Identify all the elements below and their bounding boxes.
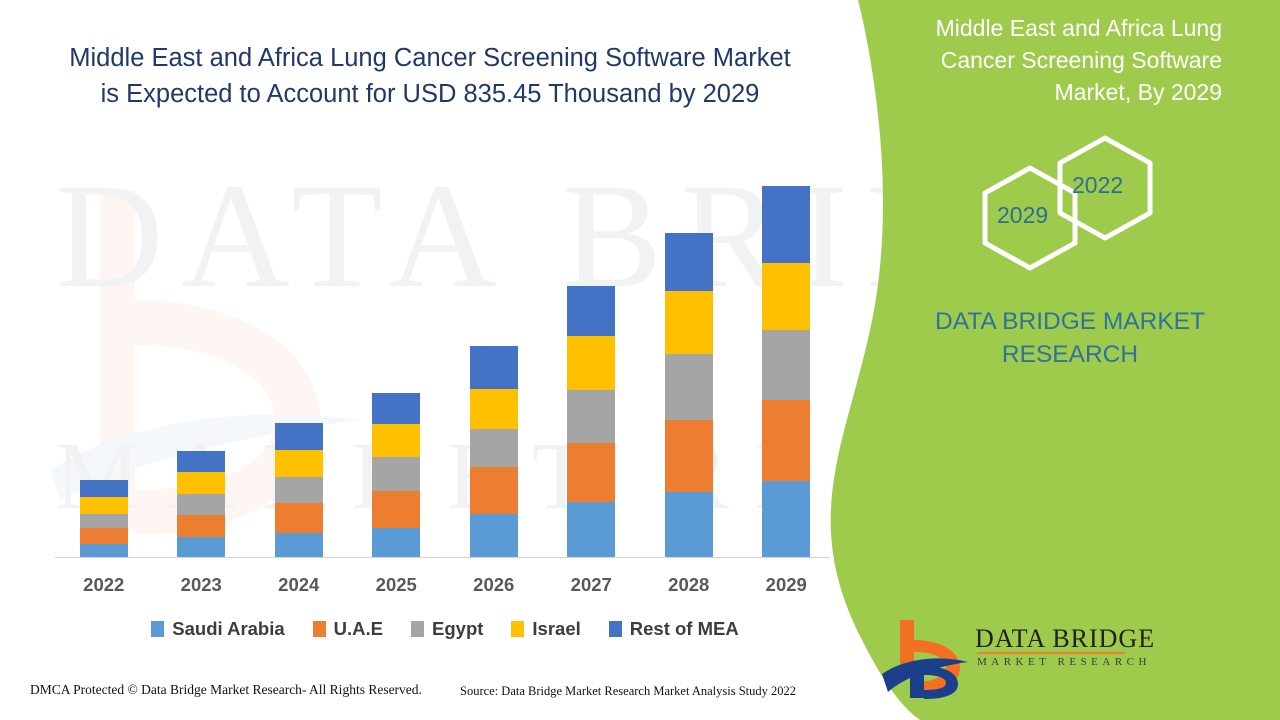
- right-panel-title-line3: Market, By 2029: [1055, 79, 1222, 105]
- bar-segment-israel-2022[interactable]: [80, 497, 128, 514]
- page-title-line2: is Expected to Account for USD 835.45 Th…: [101, 80, 760, 108]
- brand-line2: RESEARCH: [1002, 341, 1138, 368]
- bar-column-2026[interactable]: [470, 346, 518, 558]
- bar-segment-u-a-e-2022[interactable]: [80, 528, 128, 544]
- bar-segment-israel-2023[interactable]: [177, 472, 225, 494]
- hexagon-2029-label: 2029: [997, 202, 1048, 229]
- bar-segment-u-a-e-2029[interactable]: [762, 400, 810, 481]
- bar-segment-egypt-2024[interactable]: [275, 477, 323, 503]
- legend-item-u-a-e[interactable]: U.A.E: [313, 618, 383, 640]
- bar-segment-egypt-2027[interactable]: [567, 390, 615, 443]
- x-axis-label-2029: 2029: [741, 574, 831, 596]
- x-axis-label-2023: 2023: [156, 574, 246, 596]
- chart-x-axis-line: [55, 557, 830, 558]
- data-bridge-logo: DATA BRIDGE MARKET RESEARCH: [880, 610, 1130, 695]
- bar-segment-egypt-2025[interactable]: [372, 457, 420, 491]
- bar-segment-saudi-arabia-2022[interactable]: [80, 544, 128, 558]
- hexagon-group: 2022 2029: [860, 130, 1280, 295]
- bar-segment-u-a-e-2025[interactable]: [372, 491, 420, 528]
- chart-x-axis-labels: 20222023202420252026202720282029: [55, 574, 835, 600]
- bar-segment-saudi-arabia-2027[interactable]: [567, 502, 615, 558]
- bar-column-2024[interactable]: [275, 423, 323, 558]
- legend-item-rest-of-mea[interactable]: Rest of MEA: [609, 618, 739, 640]
- legend-swatch-icon: [609, 621, 622, 637]
- right-panel-title: Middle East and Africa Lung Cancer Scree…: [850, 12, 1260, 108]
- bar-segment-saudi-arabia-2029[interactable]: [762, 481, 810, 558]
- logo-divider: [977, 652, 1125, 654]
- bar-segment-rest-of-mea-2024[interactable]: [275, 423, 323, 450]
- bar-segment-saudi-arabia-2028[interactable]: [665, 492, 713, 558]
- legend-label: Rest of MEA: [630, 618, 739, 640]
- bar-column-2023[interactable]: [177, 451, 225, 558]
- bar-segment-saudi-arabia-2026[interactable]: [470, 514, 518, 558]
- bar-segment-egypt-2023[interactable]: [177, 494, 225, 515]
- bar-segment-egypt-2022[interactable]: [80, 514, 128, 528]
- bar-column-2029[interactable]: [762, 186, 810, 558]
- x-axis-label-2026: 2026: [449, 574, 539, 596]
- bar-segment-u-a-e-2023[interactable]: [177, 515, 225, 537]
- bar-segment-u-a-e-2027[interactable]: [567, 443, 615, 502]
- bar-column-2028[interactable]: [665, 233, 713, 558]
- bar-segment-israel-2024[interactable]: [275, 450, 323, 477]
- legend-item-egypt[interactable]: Egypt: [411, 618, 483, 640]
- legend-item-saudi-arabia[interactable]: Saudi Arabia: [151, 618, 284, 640]
- bar-segment-saudi-arabia-2024[interactable]: [275, 533, 323, 558]
- bar-segment-u-a-e-2028[interactable]: [665, 420, 713, 492]
- legend-label: Israel: [532, 618, 580, 640]
- legend-swatch-icon: [313, 621, 326, 637]
- legend-swatch-icon: [511, 621, 524, 637]
- bar-segment-rest-of-mea-2028[interactable]: [665, 233, 713, 291]
- x-axis-label-2024: 2024: [254, 574, 344, 596]
- x-axis-label-2028: 2028: [644, 574, 734, 596]
- bar-segment-saudi-arabia-2025[interactable]: [372, 528, 420, 558]
- bar-segment-egypt-2028[interactable]: [665, 354, 713, 420]
- bar-segment-rest-of-mea-2022[interactable]: [80, 480, 128, 497]
- x-axis-label-2025: 2025: [351, 574, 441, 596]
- bar-segment-u-a-e-2024[interactable]: [275, 503, 323, 533]
- data-bridge-mark-icon: [880, 614, 970, 699]
- bar-segment-israel-2028[interactable]: [665, 291, 713, 354]
- bar-segment-israel-2026[interactable]: [470, 389, 518, 429]
- legend-label: U.A.E: [334, 618, 383, 640]
- footer-copyright: DMCA Protected © Data Bridge Market Rese…: [30, 682, 422, 698]
- logo-main-text: DATA BRIDGE: [975, 624, 1155, 654]
- chart-panel: Middle East and Africa Lung Cancer Scree…: [0, 0, 860, 720]
- bar-segment-israel-2029[interactable]: [762, 263, 810, 330]
- bar-column-2027[interactable]: [567, 286, 615, 558]
- page-title-line1: Middle East and Africa Lung Cancer Scree…: [69, 44, 790, 72]
- bar-segment-israel-2025[interactable]: [372, 424, 420, 457]
- page-title: Middle East and Africa Lung Cancer Scree…: [30, 40, 830, 112]
- hexagon-shapes-icon: [860, 130, 1280, 295]
- bar-segment-rest-of-mea-2027[interactable]: [567, 286, 615, 336]
- legend-label: Egypt: [432, 618, 483, 640]
- bar-segment-rest-of-mea-2025[interactable]: [372, 393, 420, 424]
- right-panel-title-line2: Cancer Screening Software: [941, 47, 1222, 73]
- x-axis-label-2022: 2022: [59, 574, 149, 596]
- hexagon-2022-label: 2022: [1072, 172, 1123, 199]
- legend-label: Saudi Arabia: [172, 618, 284, 640]
- bar-column-2025[interactable]: [372, 393, 420, 558]
- brand-line1: DATA BRIDGE MARKET: [935, 308, 1205, 335]
- legend-swatch-icon: [411, 621, 424, 637]
- bar-segment-egypt-2029[interactable]: [762, 330, 810, 400]
- x-axis-label-2027: 2027: [546, 574, 636, 596]
- bar-column-2022[interactable]: [80, 480, 128, 558]
- bar-segment-u-a-e-2026[interactable]: [470, 467, 518, 514]
- bar-segment-saudi-arabia-2023[interactable]: [177, 537, 225, 558]
- bar-segment-israel-2027[interactable]: [567, 336, 615, 390]
- legend-swatch-icon: [151, 621, 164, 637]
- bar-segment-egypt-2026[interactable]: [470, 429, 518, 467]
- chart-legend: Saudi ArabiaU.A.EEgyptIsraelRest of MEA: [55, 614, 835, 644]
- bar-segment-rest-of-mea-2023[interactable]: [177, 451, 225, 472]
- bar-segment-rest-of-mea-2026[interactable]: [470, 346, 518, 389]
- right-panel-title-line1: Middle East and Africa Lung: [936, 15, 1222, 41]
- bar-segment-rest-of-mea-2029[interactable]: [762, 186, 810, 263]
- right-panel-content: Middle East and Africa Lung Cancer Scree…: [860, 0, 1280, 720]
- footer-source: Source: Data Bridge Market Research Mark…: [460, 684, 796, 699]
- right-panel-brand-text: DATA BRIDGE MARKET RESEARCH: [860, 305, 1280, 371]
- chart-plot-area: [55, 160, 835, 558]
- logo-sub-text: MARKET RESEARCH: [977, 656, 1151, 668]
- legend-item-israel[interactable]: Israel: [511, 618, 580, 640]
